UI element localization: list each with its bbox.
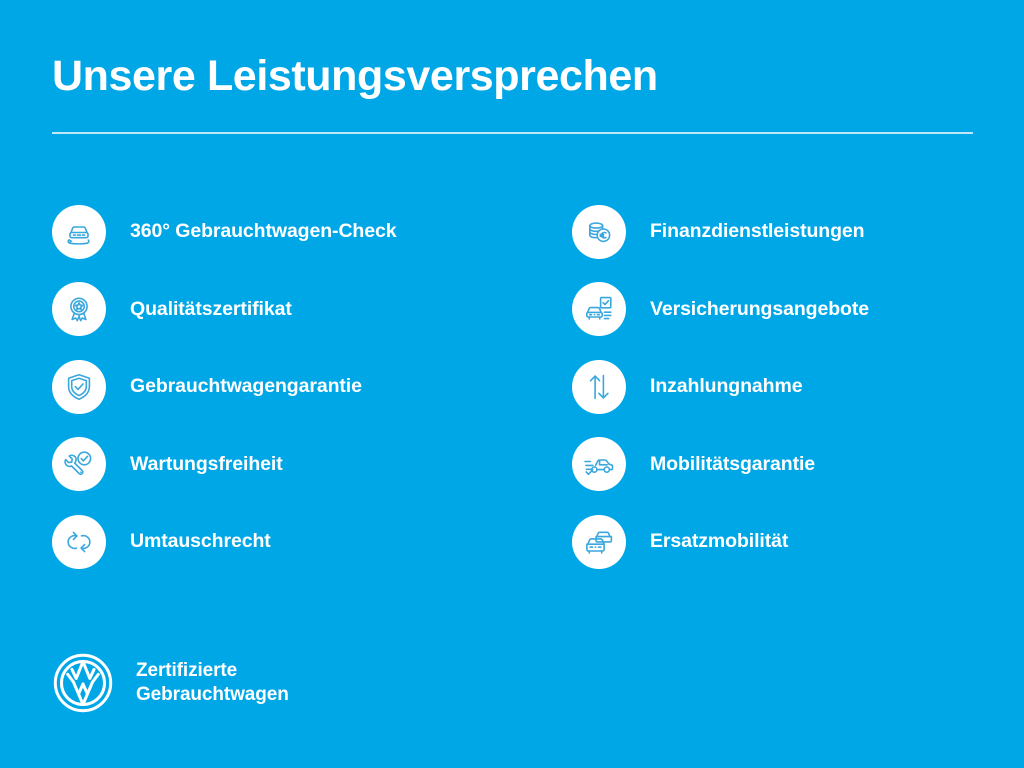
volkswagen-logo (52, 652, 114, 714)
wrench-check-icon (52, 437, 106, 491)
feature-grid: 360° Gebrauchtwagen-Check Finanzdienstle… (52, 193, 973, 581)
slide-root: Unsere Leistungsversprechen 360° Gebrauc… (0, 0, 1024, 768)
feature-label: Versicherungsangebote (650, 298, 869, 321)
feature-label: Finanzdienstleistungen (650, 220, 864, 243)
shield-check-icon (52, 360, 106, 414)
award-rosette-icon (52, 282, 106, 336)
brand-text: Zertifizierte Gebrauchtwagen (136, 659, 289, 708)
feature-label: Qualitätszertifikat (130, 298, 292, 321)
car-document-check-icon (572, 282, 626, 336)
feature-item-ersatzmobilitaet[interactable]: Ersatzmobilität (572, 503, 973, 581)
feature-item-inzahlungnahme[interactable]: Inzahlungnahme (572, 348, 973, 426)
feature-label: Gebrauchtwagengarantie (130, 375, 362, 398)
feature-item-finanzdienstleistungen[interactable]: Finanzdienstleistungen (572, 193, 973, 271)
car-motion-icon (572, 437, 626, 491)
feature-item-versicherungsangebote[interactable]: Versicherungsangebote (572, 271, 973, 349)
feature-item-umtauschrecht[interactable]: Umtauschrecht (52, 503, 572, 581)
exchange-arrows-icon (52, 515, 106, 569)
feature-item-mobilitaetsgarantie[interactable]: Mobilitätsgarantie (572, 426, 973, 504)
feature-label: Wartungsfreiheit (130, 453, 283, 476)
title-divider (52, 132, 973, 134)
brand-text-line1: Zertifizierte (136, 659, 289, 683)
up-down-arrows-icon (572, 360, 626, 414)
feature-label: Ersatzmobilität (650, 530, 788, 553)
feature-item-360-check[interactable]: 360° Gebrauchtwagen-Check (52, 193, 572, 271)
brand-lockup: Zertifizierte Gebrauchtwagen (52, 652, 289, 714)
car-inspection-icon (52, 205, 106, 259)
two-cars-icon (572, 515, 626, 569)
coins-euro-icon (572, 205, 626, 259)
feature-label: Inzahlungnahme (650, 375, 802, 398)
feature-label: 360° Gebrauchtwagen-Check (130, 220, 396, 243)
brand-text-line2: Gebrauchtwagen (136, 683, 289, 707)
feature-item-wartungsfreiheit[interactable]: Wartungsfreiheit (52, 426, 572, 504)
page-title: Unsere Leistungsversprechen (52, 52, 658, 100)
feature-label: Umtauschrecht (130, 530, 271, 553)
feature-item-qualitaetszertifikat[interactable]: Qualitätszertifikat (52, 271, 572, 349)
feature-label: Mobilitätsgarantie (650, 453, 815, 476)
feature-item-gebrauchtwagengarantie[interactable]: Gebrauchtwagengarantie (52, 348, 572, 426)
